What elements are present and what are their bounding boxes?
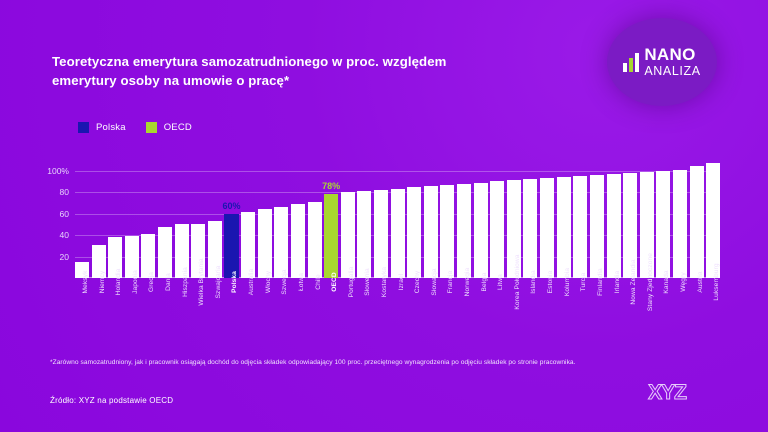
x-axis-category-label: Irlandia bbox=[614, 271, 621, 293]
x-axis-category-label: Belgia bbox=[481, 273, 488, 292]
bar-item[interactable]: Włochy bbox=[258, 160, 272, 278]
bar-item[interactable]: Korea Południowa bbox=[507, 160, 521, 278]
bar-series: MeksykNiemcyHolandiaJaponiaGrecjaDaniaHi… bbox=[75, 160, 720, 278]
x-axis-category-label: Portugalia bbox=[348, 267, 355, 298]
y-axis-tick-label: 80 bbox=[60, 187, 69, 197]
bar-item[interactable]: Kostaryka bbox=[374, 160, 388, 278]
bar bbox=[274, 207, 288, 278]
legend-item-polska: Polska bbox=[78, 122, 126, 133]
bar-item[interactable]: Estonia bbox=[540, 160, 554, 278]
bar-item[interactable]: Szwajcaria bbox=[208, 160, 222, 278]
xyz-logo: XYZ bbox=[628, 382, 706, 404]
x-axis-category-label: Luksemburg bbox=[713, 263, 720, 300]
logo-nano-text: NANO bbox=[644, 46, 700, 63]
x-axis-category-label: Kolumbia bbox=[564, 268, 571, 296]
bar bbox=[308, 202, 322, 278]
bar-value-label: 78% bbox=[322, 181, 340, 191]
page-title: Teoretyczna emerytura samozatrudnionego … bbox=[52, 52, 512, 90]
bar bbox=[357, 191, 371, 278]
bar-chart-icon bbox=[623, 53, 639, 72]
x-axis-category-label: Korea Południowa bbox=[514, 254, 521, 309]
x-axis-category-label: Słowacja bbox=[431, 268, 438, 295]
bar-item[interactable]: Grecja bbox=[141, 160, 155, 278]
bar-item[interactable]: Holandia bbox=[108, 160, 122, 278]
x-axis-category-label: Litwa bbox=[497, 274, 504, 290]
bar-item[interactable]: Wielka Brytania bbox=[191, 160, 205, 278]
bar-item[interactable]: Nowa Zelandia bbox=[623, 160, 637, 278]
bar-item[interactable]: Słowenia bbox=[357, 160, 371, 278]
x-axis-category-label: Niemcy bbox=[99, 271, 106, 294]
chart-legend: Polska OECD bbox=[78, 122, 192, 133]
x-axis-category-label: Chile bbox=[315, 274, 322, 290]
bar bbox=[258, 209, 272, 278]
bar-item[interactable]: Luksemburg bbox=[706, 160, 720, 278]
bar bbox=[540, 178, 554, 278]
bar bbox=[291, 204, 305, 278]
bar-item[interactable]: Chile bbox=[308, 160, 322, 278]
x-axis-category-label: Wielka Brytania bbox=[198, 258, 205, 305]
bar bbox=[690, 166, 704, 278]
bar-item[interactable]: Słowacja bbox=[424, 160, 438, 278]
bar-value-label: 60% bbox=[222, 201, 240, 211]
bar-item[interactable]: 78%OECD bbox=[324, 160, 338, 278]
bar bbox=[673, 170, 687, 278]
source-line: Źródło: XYZ na podstawie OECD bbox=[50, 396, 173, 405]
bar bbox=[607, 174, 621, 278]
bar bbox=[158, 227, 172, 278]
footnote: *Zarówno samozatrudniony, jak i pracowni… bbox=[50, 358, 730, 367]
bar-item[interactable]: Austria bbox=[690, 160, 704, 278]
bar-item[interactable]: Norwegia bbox=[457, 160, 471, 278]
bar bbox=[523, 179, 537, 278]
y-axis-tick-label: 60 bbox=[60, 209, 69, 219]
bar bbox=[457, 184, 471, 278]
legend-item-oecd: OECD bbox=[146, 122, 192, 133]
x-axis-category-label: Meksyk bbox=[82, 271, 89, 294]
bar-item[interactable]: Hiszpania bbox=[175, 160, 189, 278]
x-axis-category-label: Norwegia bbox=[464, 268, 471, 297]
x-axis-category-label: Nowa Zelandia bbox=[630, 259, 637, 304]
x-axis-category-label: Islandia bbox=[530, 270, 537, 294]
bar-item[interactable]: Islandia bbox=[523, 160, 537, 278]
bar-item[interactable]: Szwecja bbox=[274, 160, 288, 278]
x-axis-category-label: Finlandia bbox=[597, 268, 604, 296]
bar-item[interactable]: Czechy bbox=[407, 160, 421, 278]
y-axis-tick-label: 100% bbox=[47, 166, 69, 176]
legend-label-polska: Polska bbox=[96, 122, 126, 133]
bar bbox=[440, 185, 454, 278]
bar-item[interactable]: Stany Zjednoczone bbox=[640, 160, 654, 278]
x-axis-category-label: Łotwa bbox=[298, 273, 305, 291]
x-axis-category-label: Węgry bbox=[680, 272, 687, 292]
bar-item[interactable]: Kanada bbox=[656, 160, 670, 278]
x-axis-category-label: Turcja bbox=[580, 273, 587, 292]
x-axis-category-label: Izrael bbox=[398, 274, 405, 291]
bar-item[interactable]: Łotwa bbox=[291, 160, 305, 278]
x-axis-category-label: Austria bbox=[697, 271, 704, 292]
bar bbox=[341, 192, 355, 278]
bar bbox=[474, 183, 488, 278]
bar bbox=[374, 190, 388, 278]
bar-item[interactable]: Dania bbox=[158, 160, 172, 278]
bar-item[interactable]: Finlandia bbox=[590, 160, 604, 278]
bar-item[interactable]: Francja bbox=[440, 160, 454, 278]
bar-item[interactable]: Niemcy bbox=[92, 160, 106, 278]
bar bbox=[224, 214, 238, 278]
x-axis-category-label: Kanada bbox=[663, 270, 670, 293]
bar bbox=[590, 175, 604, 278]
x-axis-category-label: Kostaryka bbox=[381, 267, 388, 297]
bar-item[interactable]: Australia bbox=[241, 160, 255, 278]
bar bbox=[391, 189, 405, 278]
x-axis-category-label: Dania bbox=[165, 273, 172, 291]
bar-item[interactable]: Belgia bbox=[474, 160, 488, 278]
x-axis-category-label: Szwecja bbox=[281, 269, 288, 294]
bar bbox=[706, 163, 720, 278]
bar bbox=[573, 176, 587, 278]
x-axis-category-label: Hiszpania bbox=[182, 267, 189, 297]
bar-item[interactable]: Japonia bbox=[125, 160, 139, 278]
bar-item[interactable]: Węgry bbox=[673, 160, 687, 278]
bar bbox=[424, 186, 438, 278]
x-axis-category-label: Estonia bbox=[547, 271, 554, 294]
bar bbox=[490, 181, 504, 278]
x-axis-category-label: Szwajcaria bbox=[215, 266, 222, 299]
bar-item[interactable]: Litwa bbox=[490, 160, 504, 278]
y-axis-tick-label: 20 bbox=[60, 252, 69, 262]
bar-item[interactable]: Turcja bbox=[573, 160, 587, 278]
x-axis-category-label: Japonia bbox=[132, 270, 139, 294]
nanoanaliza-logo: NANO ANALIZA bbox=[607, 18, 717, 106]
bar bbox=[557, 177, 571, 278]
x-axis-category-label: Australia bbox=[248, 269, 255, 296]
legend-swatch-oecd bbox=[146, 122, 157, 133]
x-axis-category-label: Czechy bbox=[414, 271, 421, 294]
bar-chart-plot: 100%80604020 MeksykNiemcyHolandiaJaponia… bbox=[75, 160, 720, 278]
bar-item[interactable]: Irlandia bbox=[607, 160, 621, 278]
y-axis-tick-label: 40 bbox=[60, 230, 69, 240]
bar-item[interactable]: Meksyk bbox=[75, 160, 89, 278]
x-axis-category-label: OECD bbox=[331, 272, 338, 291]
x-axis-category-label: Polska bbox=[231, 271, 238, 293]
bar-item[interactable]: Portugalia bbox=[341, 160, 355, 278]
bar-item[interactable]: Kolumbia bbox=[557, 160, 571, 278]
bar-item[interactable]: Izrael bbox=[391, 160, 405, 278]
bar bbox=[324, 194, 338, 278]
logo-analiza-text: ANALIZA bbox=[644, 65, 700, 78]
bar-item[interactable]: 60%Polska bbox=[224, 160, 238, 278]
x-axis-category-label: Słowenia bbox=[364, 268, 371, 296]
bar bbox=[407, 187, 421, 278]
x-axis-category-label: Włochy bbox=[265, 271, 272, 293]
x-axis-category-label: Holandia bbox=[115, 269, 122, 296]
bar bbox=[656, 171, 670, 278]
legend-swatch-polska bbox=[78, 122, 89, 133]
legend-label-oecd: OECD bbox=[164, 122, 192, 133]
x-axis-category-label: Stany Zjednoczone bbox=[647, 253, 654, 311]
x-axis-category-label: Francja bbox=[447, 271, 454, 294]
x-axis-category-label: Grecja bbox=[148, 272, 155, 292]
